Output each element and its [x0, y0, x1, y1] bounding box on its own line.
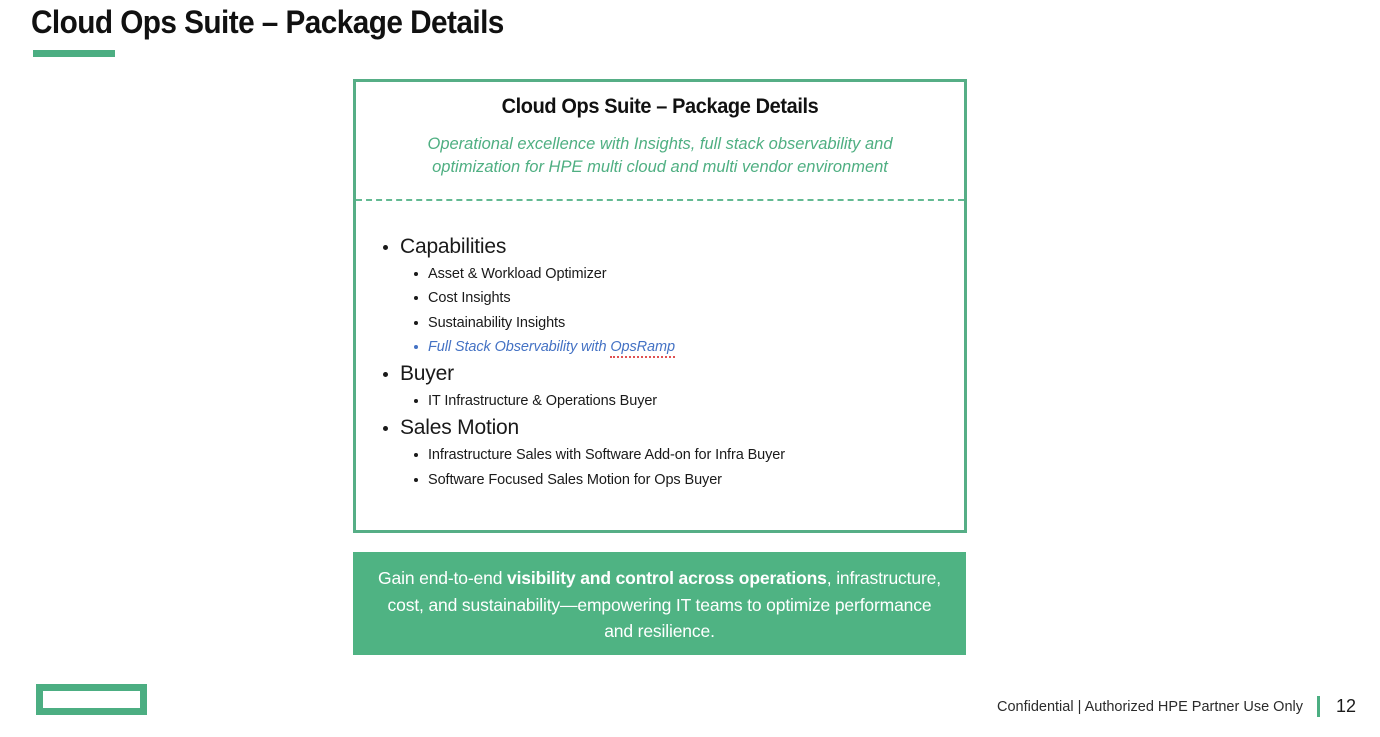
callout-lead: Gain end-to-end	[378, 568, 507, 588]
list-item: IT Infrastructure & Operations Buyer	[401, 389, 964, 413]
footer: Confidential | Authorized HPE Partner Us…	[997, 696, 1356, 717]
card-divider	[356, 199, 964, 201]
page-number: 12	[1334, 696, 1356, 717]
hpe-logo	[36, 684, 147, 715]
page-title: Cloud Ops Suite – Package Details	[31, 4, 504, 41]
package-details-card: Cloud Ops Suite – Package Details Operat…	[353, 79, 967, 533]
list-item: Software Focused Sales Motion for Ops Bu…	[401, 468, 964, 492]
card-title: Cloud Ops Suite – Package Details	[371, 95, 949, 119]
list-item: Sustainability Insights	[401, 311, 964, 335]
section-heading-buyer: Buyer	[373, 359, 964, 389]
section-heading-sales-motion: Sales Motion	[373, 413, 964, 443]
list-item: Asset & Workload Optimizer	[401, 262, 964, 286]
list-item: Cost Insights	[401, 286, 964, 310]
list-item: Infrastructure Sales with Software Add-o…	[401, 443, 964, 467]
confidential-notice: Confidential | Authorized HPE Partner Us…	[997, 699, 1303, 715]
misspelled-word: OpsRamp	[610, 339, 675, 358]
card-subtitle: Operational excellence with Insights, fu…	[356, 133, 964, 179]
list-item-opsramp-link[interactable]: Full Stack Observability with OpsRamp	[401, 335, 964, 359]
value-statement-callout: Gain end-to-end visibility and control a…	[353, 552, 966, 655]
section-heading-capabilities: Capabilities	[373, 232, 964, 262]
footer-separator	[1317, 696, 1320, 717]
callout-bold: visibility and control across operations	[507, 568, 827, 588]
bullet-list: Capabilities Asset & Workload Optimizer …	[356, 232, 964, 492]
link-text: Full Stack Observability with	[428, 339, 610, 355]
title-accent-bar	[33, 50, 115, 57]
